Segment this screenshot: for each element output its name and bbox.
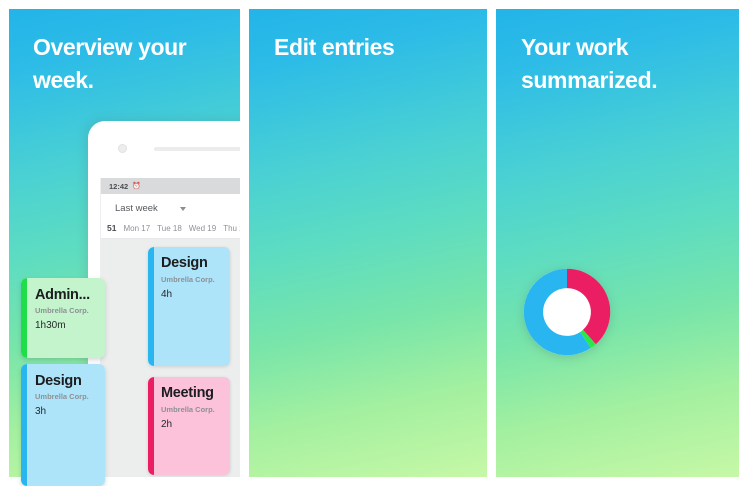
panel-headline: Your work summarized. <box>521 31 727 96</box>
chevron-down-icon[interactable] <box>180 207 186 211</box>
panel-headline: Edit entries <box>274 31 475 64</box>
entry-color-stripe <box>21 278 27 358</box>
donut-segment-administration <box>586 337 590 340</box>
screenshot-panel-edit: Edit entries 12:42 🕐 ⏰ Entry <box>249 9 487 477</box>
app-store-screenshot-set: Overview your week. 12:42 ⏰ Last week 51… <box>0 0 748 486</box>
day-label[interactable]: Thu 20 <box>223 224 240 233</box>
entry-card[interactable]: Design Umbrella Corp. 3h <box>21 364 105 486</box>
entry-title: Design <box>161 256 222 272</box>
status-bar-time: 12:42 <box>109 182 128 191</box>
panel-headline: Overview your week. <box>33 31 228 96</box>
day-label[interactable]: Mon 17 <box>123 224 150 233</box>
status-bar: 12:42 ⏰ <box>101 178 240 194</box>
entry-color-stripe <box>148 377 154 475</box>
range-selector-label: Last week <box>115 203 158 214</box>
entry-client: Umbrella Corp. <box>161 405 222 414</box>
entry-client: Umbrella Corp. <box>35 306 97 315</box>
time-logged-donut-chart <box>521 266 613 358</box>
entry-color-stripe <box>21 364 27 486</box>
alarm-icon: ⏰ <box>132 183 141 190</box>
week-number: 51 <box>107 223 116 233</box>
entry-title: Meeting <box>161 386 222 402</box>
week-day-header: 51 Mon 17 Tue 18 Wed 19 Thu 20 F <box>101 223 240 239</box>
phone-screen: 12:42 ⏰ Last week 51 Mon 17 Tue 18 Wed 1… <box>100 178 240 477</box>
entry-color-stripe <box>148 247 154 366</box>
day-label[interactable]: Wed 19 <box>189 224 216 233</box>
phone-mockup: 12:42 ⏰ Last week 51 Mon 17 Tue 18 Wed 1… <box>88 121 240 477</box>
entry-duration: 1h30m <box>35 320 97 331</box>
entry-card[interactable]: Admin... Umbrella Corp. 1h30m <box>21 278 105 358</box>
entry-duration: 4h <box>161 289 222 300</box>
range-selector[interactable]: Last week <box>101 194 240 223</box>
entry-client: Umbrella Corp. <box>161 275 222 284</box>
panel-gradient-background <box>249 9 487 477</box>
entry-duration: 3h <box>35 406 97 417</box>
entry-duration: 2h <box>161 419 222 430</box>
speaker-grille <box>154 147 240 151</box>
entry-card[interactable]: Design Umbrella Corp. 4h <box>148 247 230 366</box>
screenshot-panel-summary: Your work summarized. 12:45 ⏰ Projects M… <box>496 9 739 477</box>
week-grid: Design Umbrella Corp. 4h Meeting Umbrell… <box>101 239 240 477</box>
entry-card[interactable]: Meeting Umbrella Corp. 2h <box>148 377 230 475</box>
entry-title: Design <box>35 373 97 389</box>
front-camera-icon <box>118 144 127 153</box>
entry-client: Umbrella Corp. <box>35 392 97 401</box>
entry-title: Admin... <box>35 287 97 303</box>
day-label[interactable]: Tue 18 <box>157 224 182 233</box>
